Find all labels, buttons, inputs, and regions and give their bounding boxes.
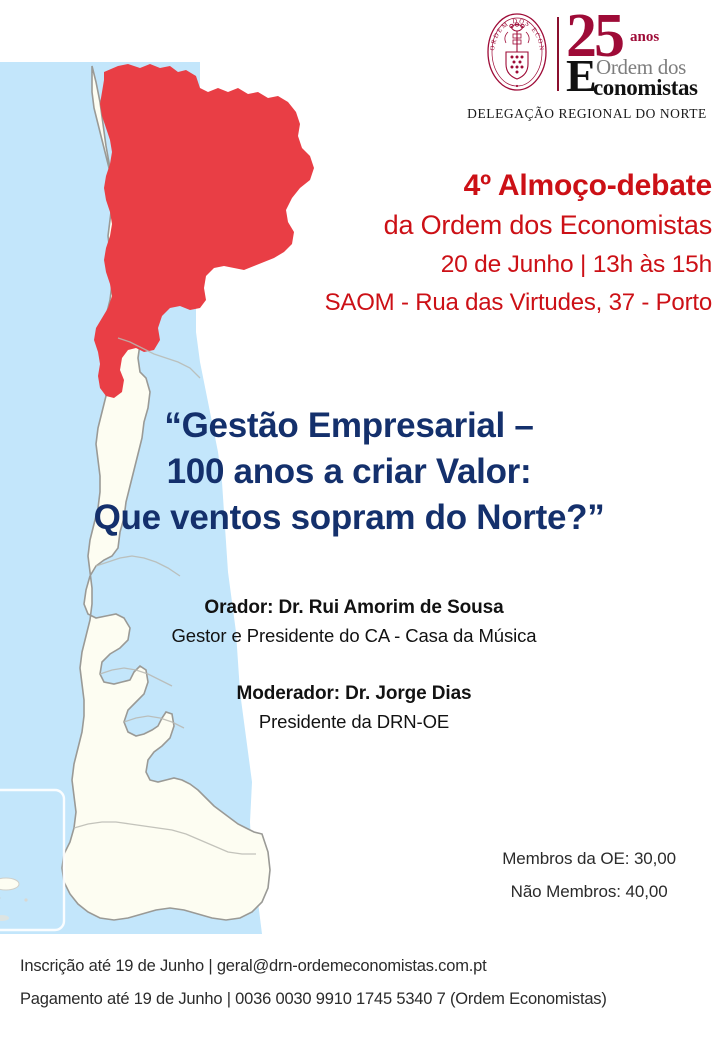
page-title: “Gestão Empresarial – 100 anos a criar V…	[0, 403, 698, 542]
page-title-line2: 100 anos a criar Valor:	[0, 449, 698, 495]
event-title: 4º Almoço-debate	[212, 166, 712, 206]
footer-payment: Pagamento até 19 de Junho | 0036 0030 99…	[20, 983, 607, 1016]
event-venue: SAOM - Rua das Virtudes, 37 - Porto	[212, 284, 712, 323]
page-title-line3: Que ventos sopram do Norte?”	[0, 495, 698, 541]
event-datetime: 20 de Junho | 13h às 15h	[212, 245, 712, 284]
moderator-role: Presidente da DRN-OE	[0, 708, 708, 736]
speakers-block: Orador: Dr. Rui Amorim de Sousa Gestor e…	[0, 594, 708, 736]
prices-block: Membros da OE: 30,00 Não Membros: 40,00	[502, 842, 676, 908]
logo-tagline: DELEGAÇÃO REGIONAL DO NORTE	[464, 106, 714, 122]
speaker-role: Gestor e Presidente do CA - Casa da Músi…	[0, 622, 708, 650]
ordem-dos-economistas-seal-icon: ORDEM DOS ECONOMISTAS	[484, 10, 550, 98]
page-title-line1: “Gestão Empresarial –	[0, 403, 698, 449]
event-header: 4º Almoço-debate da Ordem dos Economista…	[212, 166, 712, 323]
logo-row: ORDEM DOS ECONOMISTAS	[464, 8, 714, 100]
anniversary-unit: anos	[630, 29, 659, 46]
logo-block: ORDEM DOS ECONOMISTAS	[464, 8, 714, 122]
moderator-name: Moderador: Dr. Jorge Dias	[0, 680, 708, 708]
speaker-name: Orador: Dr. Rui Amorim de Sousa	[0, 594, 708, 622]
logo-divider	[557, 17, 559, 91]
speakers-spacer	[0, 649, 708, 680]
footer-registration: Inscrição até 19 de Junho | geral@drn-or…	[20, 950, 607, 983]
price-non-members: Não Membros: 40,00	[502, 875, 676, 908]
logo-wordmark: 25 anos E Ordem dos conomistas	[566, 9, 714, 99]
price-members: Membros da OE: 30,00	[502, 842, 676, 875]
event-organizer: da Ordem dos Economistas	[212, 206, 712, 245]
footer-block: Inscrição até 19 de Junho | geral@drn-or…	[20, 950, 607, 1016]
org-name-line2: conomistas	[593, 76, 698, 99]
